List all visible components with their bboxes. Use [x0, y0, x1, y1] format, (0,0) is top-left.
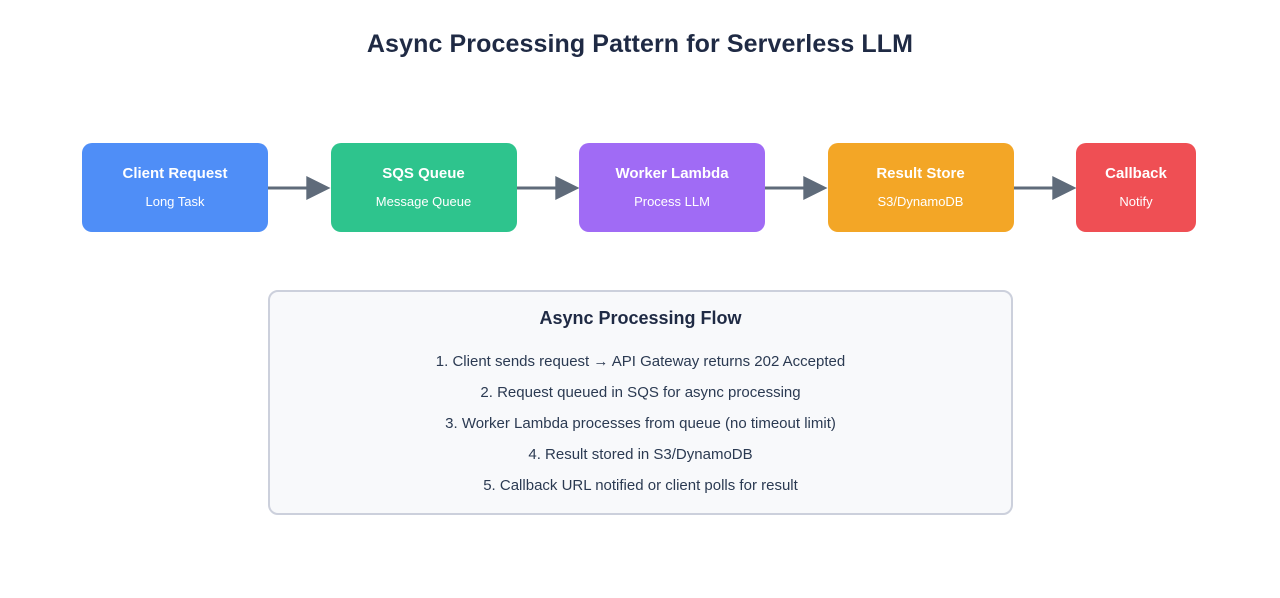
- panel-heading: Async Processing Flow: [270, 308, 1011, 329]
- diagram-canvas: Async Processing Pattern for Serverless …: [0, 0, 1280, 598]
- flow-node-title: Result Store: [876, 166, 964, 183]
- flow-node-callback[interactable]: Callback Notify: [1076, 143, 1196, 232]
- flow-node-title: Callback: [1105, 166, 1167, 183]
- flow-node-sqs-queue[interactable]: SQS Queue Message Queue: [331, 143, 517, 232]
- async-flow-panel: Async Processing Flow 1. Client sends re…: [268, 290, 1013, 515]
- page-title: Async Processing Pattern for Serverless …: [0, 30, 1280, 59]
- arrow-right-icon: [1014, 175, 1077, 201]
- flow-node-result-store[interactable]: Result Store S3/DynamoDB: [828, 143, 1014, 232]
- flow-node-title: Client Request: [122, 166, 227, 183]
- arrow-right-icon: [268, 175, 331, 201]
- list-item: 5. Callback URL notified or client polls…: [270, 470, 1011, 501]
- arrow-connector-4: [1014, 175, 1077, 201]
- flow-node-worker-lambda[interactable]: Worker Lambda Process LLM: [579, 143, 765, 232]
- flow-node-subtitle: Notify: [1119, 195, 1152, 209]
- arrow-connector-3: [765, 175, 828, 201]
- arrow-connector-1: [268, 175, 331, 201]
- flow-pipeline: Client Request Long Task SQS Queue Messa…: [82, 143, 1196, 232]
- flow-node-subtitle: Process LLM: [634, 195, 710, 209]
- flow-node-subtitle: S3/DynamoDB: [878, 195, 964, 209]
- list-item: 4. Result stored in S3/DynamoDB: [270, 439, 1011, 470]
- flow-node-subtitle: Message Queue: [376, 195, 471, 209]
- list-item: 2. Request queued in SQS for async proce…: [270, 377, 1011, 408]
- flow-steps-list: 1. Client sends request → API Gateway re…: [270, 346, 1011, 501]
- arrow-connector-2: [517, 175, 580, 201]
- flow-node-client-request[interactable]: Client Request Long Task: [82, 143, 268, 232]
- list-item: 3. Worker Lambda processes from queue (n…: [270, 408, 1011, 439]
- arrow-right-icon: [765, 175, 828, 201]
- list-item: 1. Client sends request → API Gateway re…: [270, 346, 1011, 377]
- flow-node-title: Worker Lambda: [615, 166, 728, 183]
- flow-node-subtitle: Long Task: [145, 195, 204, 209]
- arrow-right-icon: [517, 175, 580, 201]
- flow-node-title: SQS Queue: [382, 166, 465, 183]
